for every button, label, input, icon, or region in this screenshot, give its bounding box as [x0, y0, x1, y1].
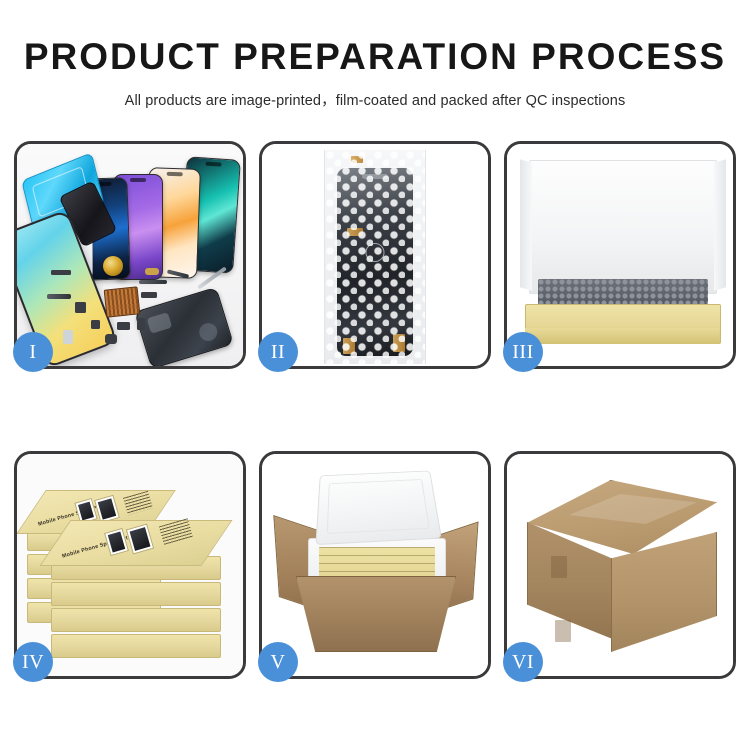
process-step-panel-5: V [259, 451, 491, 679]
bubble-wrapped-package [324, 150, 426, 364]
page-subtitle: All products are image-printed，film-coat… [0, 89, 750, 110]
product-preparation-page: PRODUCT PREPARATION PROCESS All products… [0, 0, 750, 750]
carton-tape-icon [551, 556, 567, 578]
step-badge-3: III [503, 332, 543, 372]
bubble-wrap-texture-icon [325, 150, 425, 364]
step-badge-1: I [13, 332, 53, 372]
step-badge-6: VI [503, 642, 543, 682]
process-step-panel-6: VI [504, 451, 736, 679]
yellow-box-front-icon [525, 328, 719, 344]
part-chip-icon [137, 318, 145, 330]
stacked-box-icon [51, 608, 221, 632]
process-step-panel-2: II [259, 141, 491, 369]
step-badge-2: II [258, 332, 298, 372]
part-chip-icon [141, 292, 157, 298]
step-6-photo [507, 454, 733, 676]
step-4-photo: Mobile Phone Spare Parts Mobile Phone Sp… [17, 454, 243, 676]
part-chip-icon [91, 320, 100, 329]
foam-cooler-lid-icon [315, 470, 442, 545]
carton-tape-icon [555, 620, 571, 642]
part-chip-icon [145, 268, 159, 275]
flex-cable-icon [139, 280, 167, 284]
process-step-panel-4: Mobile Phone Spare Parts Mobile Phone Sp… [14, 451, 246, 679]
box-stack: Mobile Phone Spare Parts Mobile Phone Sp… [25, 472, 237, 662]
step-badge-4: IV [13, 642, 53, 682]
process-step-panel-3: III [504, 141, 736, 369]
copper-mesh-icon [104, 286, 141, 317]
flex-cable-icon [47, 294, 71, 299]
part-chip-icon [105, 334, 117, 344]
speaker-coil-icon [103, 256, 123, 276]
stacked-box-icon [51, 582, 221, 606]
part-chip-icon [75, 302, 86, 313]
header: PRODUCT PREPARATION PROCESS All products… [0, 0, 750, 110]
step-badge-5: V [258, 642, 298, 682]
box-lid-icon [529, 160, 717, 294]
step-3-photo [507, 144, 733, 366]
part-chip-icon [51, 270, 71, 275]
step-2-photo [262, 144, 488, 366]
process-step-panel-1: I [14, 141, 246, 369]
part-chip-icon [63, 330, 73, 344]
stacked-box-icon [51, 634, 221, 658]
page-title: PRODUCT PREPARATION PROCESS [0, 38, 750, 77]
process-step-grid: I II [14, 141, 736, 679]
carton-body-icon [296, 576, 456, 652]
part-chip-icon [117, 322, 130, 330]
step-1-photo [17, 144, 243, 366]
step-5-photo [262, 454, 488, 676]
